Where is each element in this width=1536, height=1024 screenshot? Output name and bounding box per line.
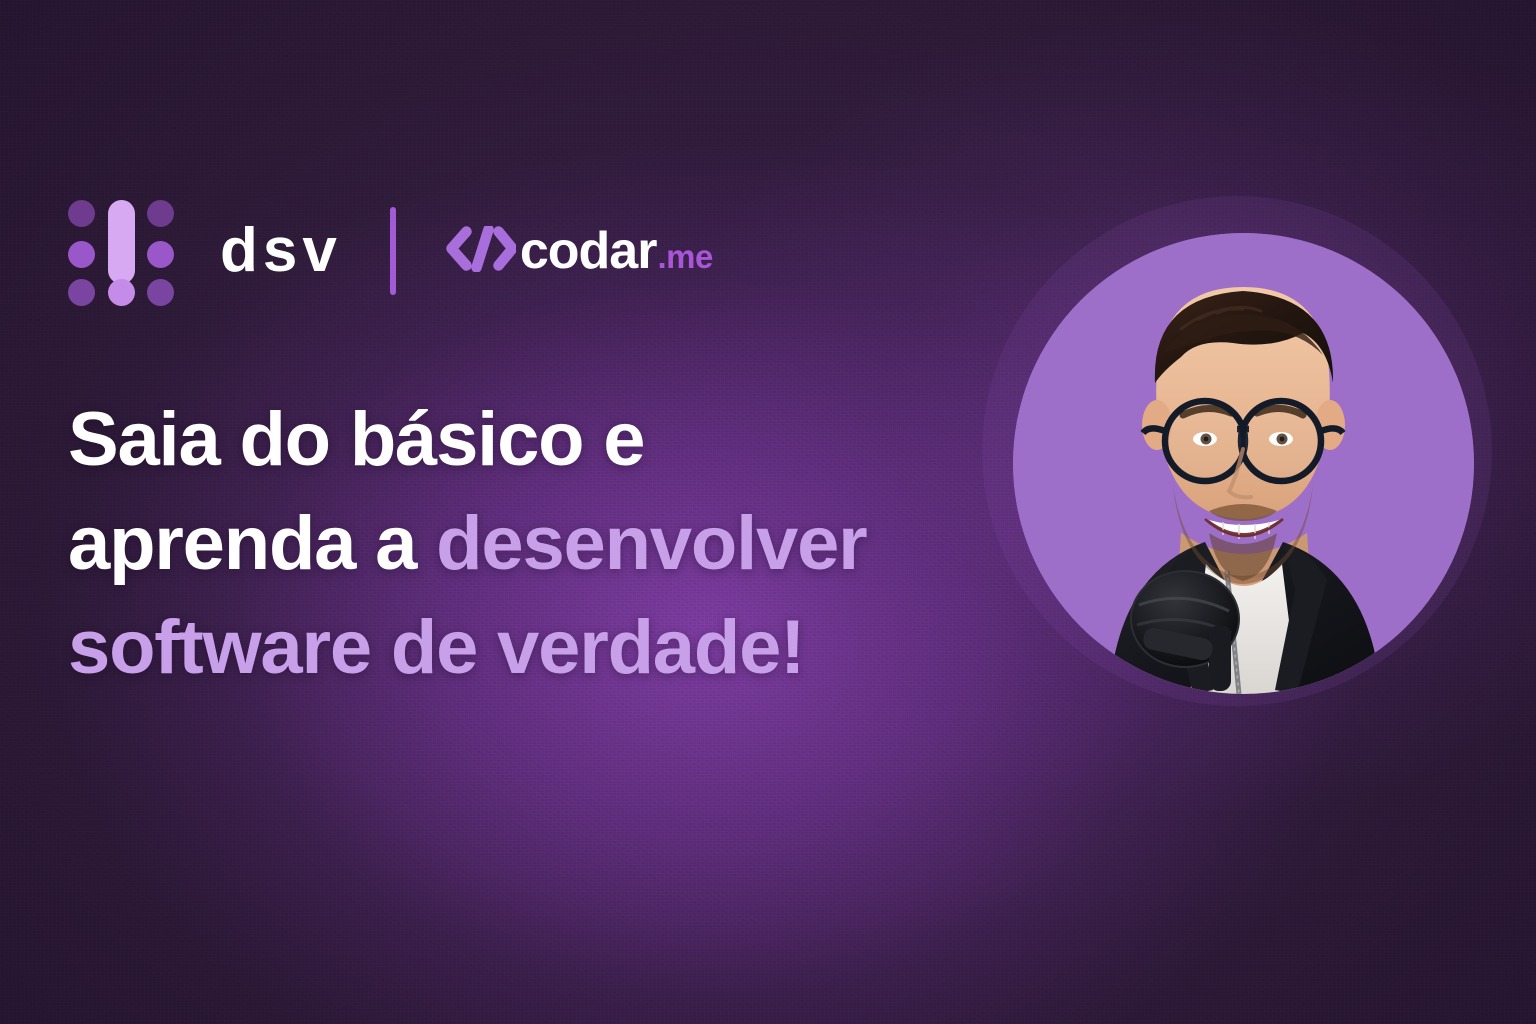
logo-divider xyxy=(390,207,396,295)
codar-name-text: codar xyxy=(520,225,657,277)
dsv-logo-mark-icon xyxy=(68,196,174,306)
logo-pill-center xyxy=(108,200,135,284)
logo-dot-middle-right xyxy=(147,241,174,268)
logo-dot-bottom-right xyxy=(147,279,174,306)
codar-tld-text: .me xyxy=(657,240,712,273)
promo-banner: dsv codar .me Saia do básico e aprenda a… xyxy=(0,0,1536,1024)
headline-line-1: Saia do básico e xyxy=(68,388,988,492)
codar-me-logo: codar .me xyxy=(446,225,713,277)
headline-segment: Saia do básico e xyxy=(68,397,644,482)
logo-dot-top-right xyxy=(147,200,174,227)
logo-dot-bottom-center xyxy=(108,279,135,306)
code-brackets-icon xyxy=(446,226,516,276)
headline-line-2: aprenda a desenvolver xyxy=(68,492,988,596)
logo-dot-middle-left xyxy=(68,241,95,268)
headline-segment: aprenda a xyxy=(68,501,436,586)
portrait-illustration xyxy=(1013,233,1474,694)
logo-lockup: dsv codar .me xyxy=(68,196,713,306)
logo-dot-bottom-left xyxy=(68,279,95,306)
dsv-wordmark: dsv xyxy=(220,220,342,282)
logo-dot-top-left xyxy=(68,200,95,227)
headline-segment-accent: desenvolver xyxy=(436,501,866,586)
headline: Saia do básico e aprenda a desenvolver s… xyxy=(68,388,988,700)
headline-segment-accent: software de verdade! xyxy=(68,605,804,690)
headline-line-3: software de verdade! xyxy=(68,596,988,700)
avatar xyxy=(1013,233,1474,694)
portrait-block xyxy=(982,196,1504,718)
